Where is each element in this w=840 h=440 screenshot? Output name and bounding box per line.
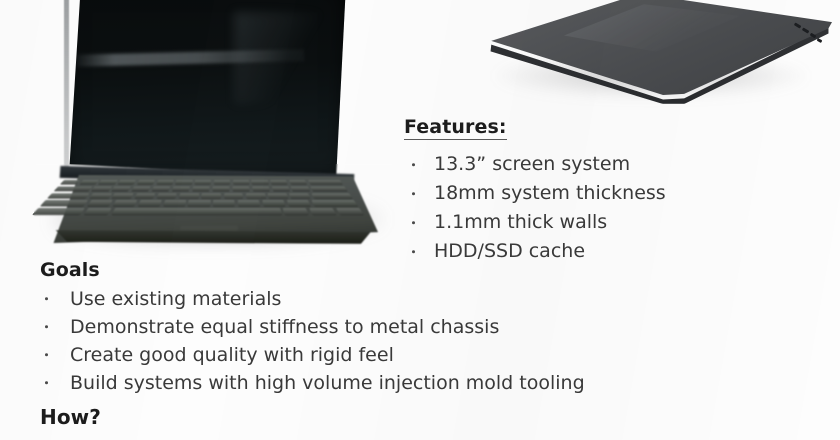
goals-heading: Goals (40, 259, 740, 281)
bullet-dot-icon (412, 250, 415, 253)
key (98, 180, 117, 185)
key (271, 186, 290, 191)
list-item-label: Build systems with high volume injection… (70, 372, 585, 394)
key (137, 180, 155, 185)
list-item-label: Create good quality with rigid feel (70, 344, 394, 366)
key (179, 193, 199, 198)
key (246, 193, 266, 198)
list-item: Use existing materials (40, 285, 740, 313)
open-laptop-photo (34, 0, 394, 256)
list-item: 1.1mm thick walls (404, 208, 824, 237)
bullet-dot-icon (45, 353, 48, 356)
laptop-bottom-panel-photo (470, 0, 840, 116)
key (33, 208, 86, 214)
key (311, 193, 353, 198)
key (283, 208, 309, 214)
key (172, 186, 190, 191)
key (252, 186, 270, 191)
key (214, 180, 231, 185)
features-list: 13.3” screen system 18mm system thicknes… (404, 150, 824, 266)
key (89, 193, 112, 198)
key (238, 200, 261, 206)
list-item-label: 18mm system thickness (434, 182, 666, 204)
port-cutout (810, 33, 817, 39)
key (289, 193, 311, 198)
key (251, 180, 268, 185)
bullet-dot-icon (45, 381, 48, 384)
spacebar-key (112, 208, 282, 214)
bullet-dot-icon (45, 325, 48, 328)
key (262, 200, 285, 206)
panel-port-cutouts (790, 20, 834, 52)
key (163, 200, 186, 206)
list-item: 18mm system thickness (404, 179, 824, 208)
key (113, 200, 138, 206)
key (152, 186, 171, 191)
key (132, 186, 151, 191)
key (213, 200, 235, 206)
list-item: Demonstrate equal stiffness to metal cha… (40, 313, 740, 341)
keyboard-row (60, 180, 344, 185)
key (156, 193, 177, 198)
key (188, 200, 210, 206)
key (84, 208, 112, 214)
key (289, 180, 307, 185)
key (309, 208, 336, 214)
key (87, 200, 112, 206)
how-section: How? (40, 405, 101, 429)
port-cutout (794, 22, 802, 29)
list-item-label: Use existing materials (70, 288, 281, 310)
key (195, 180, 212, 185)
key (117, 180, 136, 185)
bullet-dot-icon (45, 297, 48, 300)
bullet-dot-icon (412, 192, 415, 195)
key (47, 193, 90, 198)
keyboard-row (33, 208, 364, 214)
key (134, 193, 155, 198)
key (224, 193, 244, 198)
features-heading: Features: (404, 116, 507, 140)
list-item: Build systems with high volume injection… (40, 369, 740, 397)
key (310, 186, 347, 191)
key (60, 180, 80, 185)
features-section: Features: 13.3” screen system 18mm syste… (404, 116, 824, 266)
key (311, 200, 358, 206)
key (138, 200, 162, 206)
key (112, 193, 134, 198)
key (111, 186, 131, 191)
list-item-label: 13.3” screen system (434, 153, 630, 175)
key (91, 186, 111, 191)
port-cutout (817, 38, 823, 43)
presentation-slide: Features: 13.3” screen system 18mm syste… (0, 0, 840, 440)
key (270, 180, 288, 185)
key (308, 180, 344, 185)
keyboard-row (47, 193, 352, 198)
list-item: 13.3” screen system (404, 150, 824, 179)
how-heading: How? (40, 405, 101, 429)
key (232, 186, 250, 191)
screen-left-bezel-edge (64, 0, 69, 172)
laptop-keyboard (35, 180, 363, 212)
key (291, 186, 310, 191)
key (54, 186, 92, 191)
list-item-label: 1.1mm thick walls (434, 211, 607, 233)
key (336, 208, 364, 214)
laptop-front-edge (44, 230, 374, 244)
port-cutout (802, 27, 810, 34)
list-item-label: Demonstrate equal stiffness to metal cha… (70, 316, 499, 338)
key (175, 180, 192, 185)
bullet-dot-icon (412, 163, 415, 166)
key (156, 180, 174, 185)
key (40, 200, 88, 206)
key (79, 180, 99, 185)
bullet-dot-icon (412, 221, 415, 224)
key (212, 186, 229, 191)
key (267, 193, 288, 198)
key (287, 200, 311, 206)
goals-list: Use existing materials Demonstrate equal… (40, 285, 740, 397)
key (201, 193, 221, 198)
goals-section: Goals Use existing materials Demonstrate… (40, 259, 740, 397)
keyboard-row (40, 200, 358, 206)
key (192, 186, 210, 191)
key (233, 180, 250, 185)
keyboard-row (54, 186, 348, 191)
list-item: Create good quality with rigid feel (40, 341, 740, 369)
